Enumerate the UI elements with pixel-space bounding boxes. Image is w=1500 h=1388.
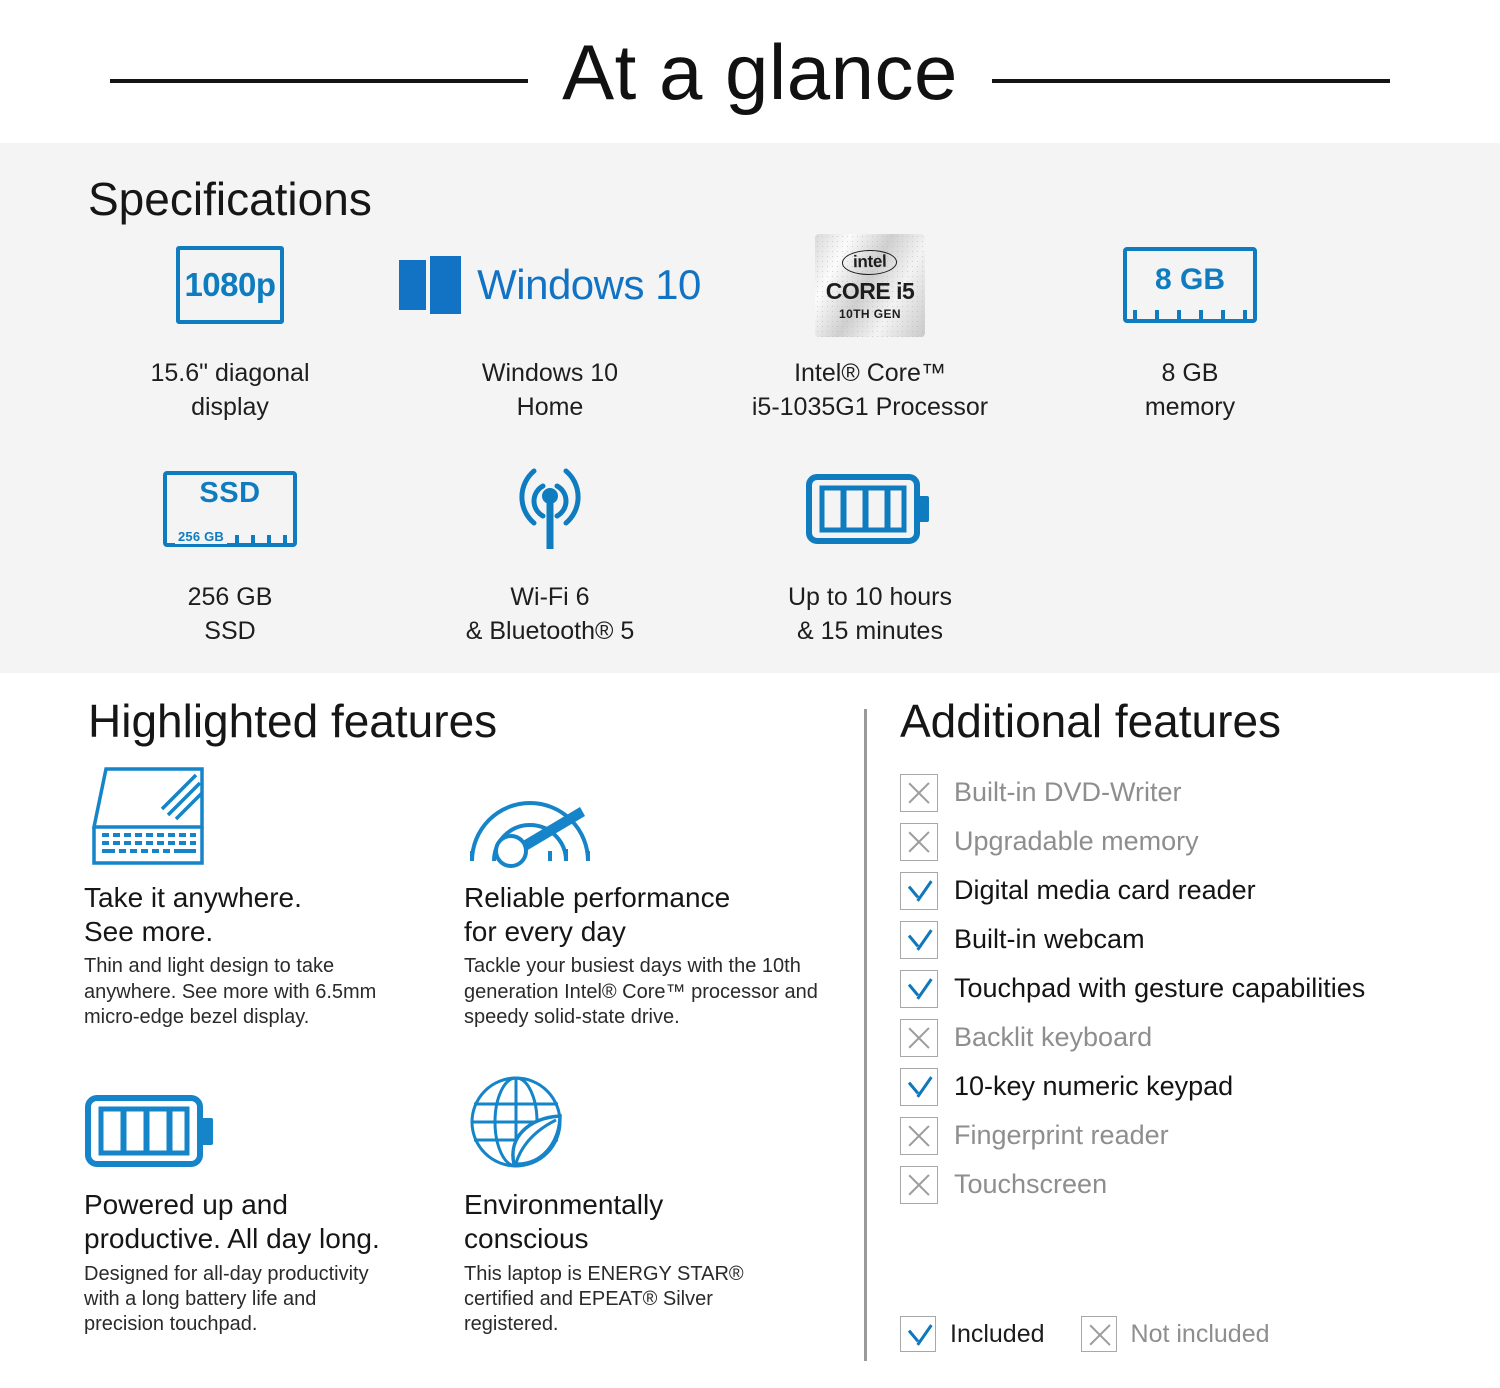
list-item-label: Fingerprint reader <box>954 1122 1169 1149</box>
feature-body: This laptop is ENERGY STAR® certified an… <box>464 1262 826 1338</box>
battery-icon <box>806 455 934 563</box>
globe-leaf-glyph <box>464 1072 580 1176</box>
feature-heading: Powered up and productive. All day long. <box>84 1188 446 1255</box>
header-rule-right <box>992 79 1390 83</box>
legend-included-label: Included <box>950 1320 1045 1349</box>
list-item-label: Built-in DVD-Writer <box>954 779 1182 806</box>
laptop-icon <box>84 761 446 869</box>
feature-heading: Environmentally conscious <box>464 1188 826 1255</box>
memory-notches <box>1133 310 1247 323</box>
speedometer-glyph <box>464 769 600 869</box>
list-item-label: 10-key numeric keypad <box>954 1073 1233 1100</box>
specifications-row-2: SSD 256 GB 256 GB SSD <box>70 455 1370 649</box>
feature-body: Tackle your busiest days with the 10th g… <box>464 954 826 1030</box>
feature-environmentally-conscious: Environmentally conscious This laptop is… <box>464 1068 844 1337</box>
check-icon <box>900 970 938 1008</box>
feature-powered-up: Powered up and productive. All day long.… <box>84 1068 464 1337</box>
list-item-label: Touchscreen <box>954 1171 1107 1198</box>
spec-item-wireless: Wi-Fi 6 & Bluetooth® 5 <box>390 455 710 649</box>
spec-label-os: Windows 10 Home <box>482 357 618 425</box>
highlighted-features-title: Highlighted features <box>88 698 497 744</box>
list-item[interactable]: 10-key numeric keypad <box>900 1062 1470 1111</box>
spec-item-os: Windows 10 Windows 10 Home <box>390 231 710 425</box>
ssd-badge-label: SSD <box>163 477 297 510</box>
additional-features-list: Built-in DVD-Writer Upgradable memory Di… <box>900 768 1470 1209</box>
list-item[interactable]: Upgradable memory <box>900 817 1470 866</box>
check-icon <box>900 1068 938 1106</box>
cross-icon <box>900 823 938 861</box>
spec-label-memory: 8 GB memory <box>1145 357 1235 425</box>
list-item[interactable]: Digital media card reader <box>900 866 1470 915</box>
spec-item-empty <box>1030 455 1350 649</box>
spec-item-processor: intel CORE i5 10TH GEN Intel® Core™ i5-1… <box>710 231 1030 425</box>
list-item[interactable]: Built-in DVD-Writer <box>900 768 1470 817</box>
windows-flag-icon <box>399 256 461 314</box>
list-item-label: Backlit keyboard <box>954 1024 1152 1051</box>
at-a-glance-page: At a glance Specifications 1080p 15.6" d… <box>0 0 1500 1388</box>
spec-label-display: 15.6" diagonal display <box>150 357 309 425</box>
spec-item-storage: SSD 256 GB 256 GB SSD <box>70 455 390 649</box>
battery-glyph <box>806 472 934 546</box>
check-icon <box>900 872 938 910</box>
ssd-notches <box>235 535 287 547</box>
header-rule-left <box>110 79 528 83</box>
page-title: At a glance <box>562 33 958 111</box>
section-divider <box>864 709 867 1361</box>
speedometer-icon <box>464 761 826 869</box>
spec-label-battery: Up to 10 hours & 15 minutes <box>788 581 952 649</box>
highlighted-features-grid: Take it anywhere. See more. Thin and lig… <box>84 761 844 1338</box>
list-item[interactable]: Built-in webcam <box>900 915 1470 964</box>
list-item[interactable]: Fingerprint reader <box>900 1111 1470 1160</box>
feature-take-it-anywhere: Take it anywhere. See more. Thin and lig… <box>84 761 464 1030</box>
list-item-label: Touchpad with gesture capabilities <box>954 975 1365 1002</box>
spec-item-memory: 8 GB 8 GB memory <box>1030 231 1350 425</box>
display-1080p-icon: 1080p <box>176 231 284 339</box>
wifi-signal-icon <box>490 455 610 563</box>
list-item[interactable]: Backlit keyboard <box>900 1013 1470 1062</box>
spec-item-display: 1080p 15.6" diagonal display <box>70 231 390 425</box>
cross-icon <box>900 774 938 812</box>
globe-leaf-icon <box>464 1068 826 1176</box>
laptop-glyph <box>84 765 214 869</box>
list-item[interactable]: Touchscreen <box>900 1160 1470 1209</box>
features-section: Highlighted features Additional features <box>0 673 1500 1388</box>
ssd-module-icon: SSD 256 GB <box>163 455 297 563</box>
list-item-label: Upgradable memory <box>954 828 1199 855</box>
cross-icon <box>900 1166 938 1204</box>
feature-heading: Reliable performance for every day <box>464 881 826 948</box>
spec-label-processor: Intel® Core™ i5-1035G1 Processor <box>752 357 988 425</box>
intel-core-i5-badge-icon: intel CORE i5 10TH GEN <box>815 231 925 339</box>
battery-icon <box>84 1068 446 1176</box>
specifications-panel: Specifications 1080p 15.6" diagonal disp… <box>0 143 1500 673</box>
spec-item-battery: Up to 10 hours & 15 minutes <box>710 455 1030 649</box>
check-icon <box>900 921 938 959</box>
page-header: At a glance <box>0 0 1500 143</box>
feature-heading: Take it anywhere. See more. <box>84 881 446 948</box>
battery-glyph <box>84 1090 216 1176</box>
legend: Included Not included <box>900 1316 1270 1352</box>
intel-generation-line: 10TH GEN <box>839 307 901 321</box>
specifications-row-1: 1080p 15.6" diagonal display Windows 10 … <box>70 231 1370 425</box>
check-icon <box>900 1316 936 1352</box>
highlighted-features-row-2: Powered up and productive. All day long.… <box>84 1068 844 1337</box>
legend-not-included-label: Not included <box>1131 1320 1270 1349</box>
specifications-title: Specifications <box>88 176 372 222</box>
windows-wordmark: Windows 10 <box>477 261 701 309</box>
spec-label-storage: 256 GB SSD <box>188 581 273 649</box>
intel-core-line: CORE i5 <box>826 278 915 305</box>
list-item-label: Built-in webcam <box>954 926 1145 953</box>
feature-body: Thin and light design to take anywhere. … <box>84 954 446 1030</box>
cross-icon <box>1081 1316 1117 1352</box>
display-1080p-badge-label: 1080p <box>176 246 284 324</box>
additional-features-title: Additional features <box>900 698 1281 744</box>
list-item-label: Digital media card reader <box>954 877 1256 904</box>
windows-logo-icon: Windows 10 <box>399 231 701 339</box>
cross-icon <box>900 1019 938 1057</box>
ssd-capacity-label: 256 GB <box>175 529 227 544</box>
highlighted-features-row-1: Take it anywhere. See more. Thin and lig… <box>84 761 844 1030</box>
spec-label-wireless: Wi-Fi 6 & Bluetooth® 5 <box>466 581 635 649</box>
cross-icon <box>900 1117 938 1155</box>
list-item[interactable]: Touchpad with gesture capabilities <box>900 964 1470 1013</box>
wifi-signal-glyph <box>490 461 610 557</box>
feature-reliable-performance: Reliable performance for every day Tackl… <box>464 761 844 1030</box>
feature-body: Designed for all-day productivity with a… <box>84 1262 446 1338</box>
memory-module-icon: 8 GB <box>1123 231 1257 339</box>
